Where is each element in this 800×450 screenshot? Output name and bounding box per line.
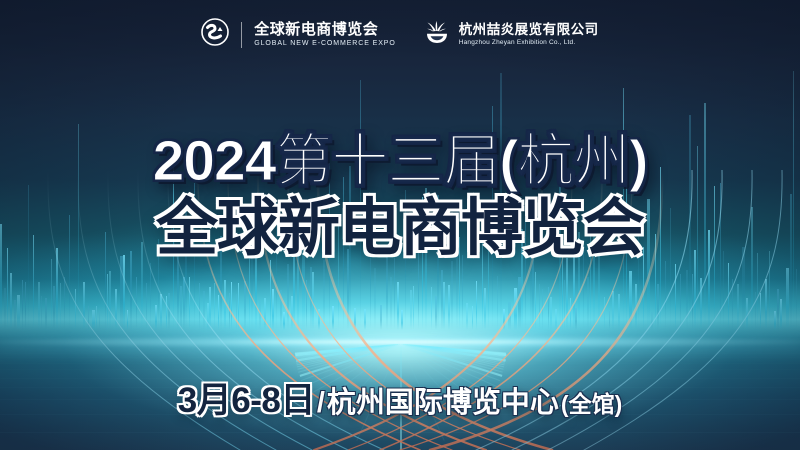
event-venue: 杭州国际博览中心: [327, 379, 559, 421]
logo-expo-name-en: GLOBAL NEW E-COMMERCE EXPO: [254, 40, 395, 47]
header-logo-row: 全球新电商博览会 GLOBAL NEW E-COMMERCE EXPO: [0, 18, 800, 51]
sprout-bowl-logo-icon: [422, 18, 452, 51]
event-date: 3月6-8日: [178, 372, 315, 423]
logo-organizer-name-en: Hangzhou Zheyan Exhibition Co., Ltd.: [459, 40, 599, 47]
globe-wave-circle-logo-icon: [201, 18, 229, 51]
expo-banner: 全球新电商博览会 GLOBAL NEW E-COMMERCE EXPO: [0, 0, 800, 450]
main-title-block: 2024第十三届(杭州) 全球新电商博览会: [0, 132, 800, 262]
event-venue-hall: (全馆): [561, 385, 622, 419]
event-separator: /: [317, 387, 325, 420]
logo-divider: [241, 22, 242, 48]
event-info-line: 3月6-8日 / 杭州国际博览中心 (全馆): [0, 372, 800, 423]
logo-organizer: 杭州喆炎展览有限公司 Hangzhou Zheyan Exhibition Co…: [422, 18, 599, 51]
logo-organizer-name-cn: 杭州喆炎展览有限公司: [459, 23, 599, 37]
logo-expo: 全球新电商博览会 GLOBAL NEW E-COMMERCE EXPO: [201, 18, 395, 51]
title-line-2: 全球新电商博览会: [0, 197, 800, 261]
title-line-1: 2024第十三届(杭州): [0, 132, 800, 191]
logo-expo-name-cn: 全球新电商博览会: [254, 22, 395, 37]
